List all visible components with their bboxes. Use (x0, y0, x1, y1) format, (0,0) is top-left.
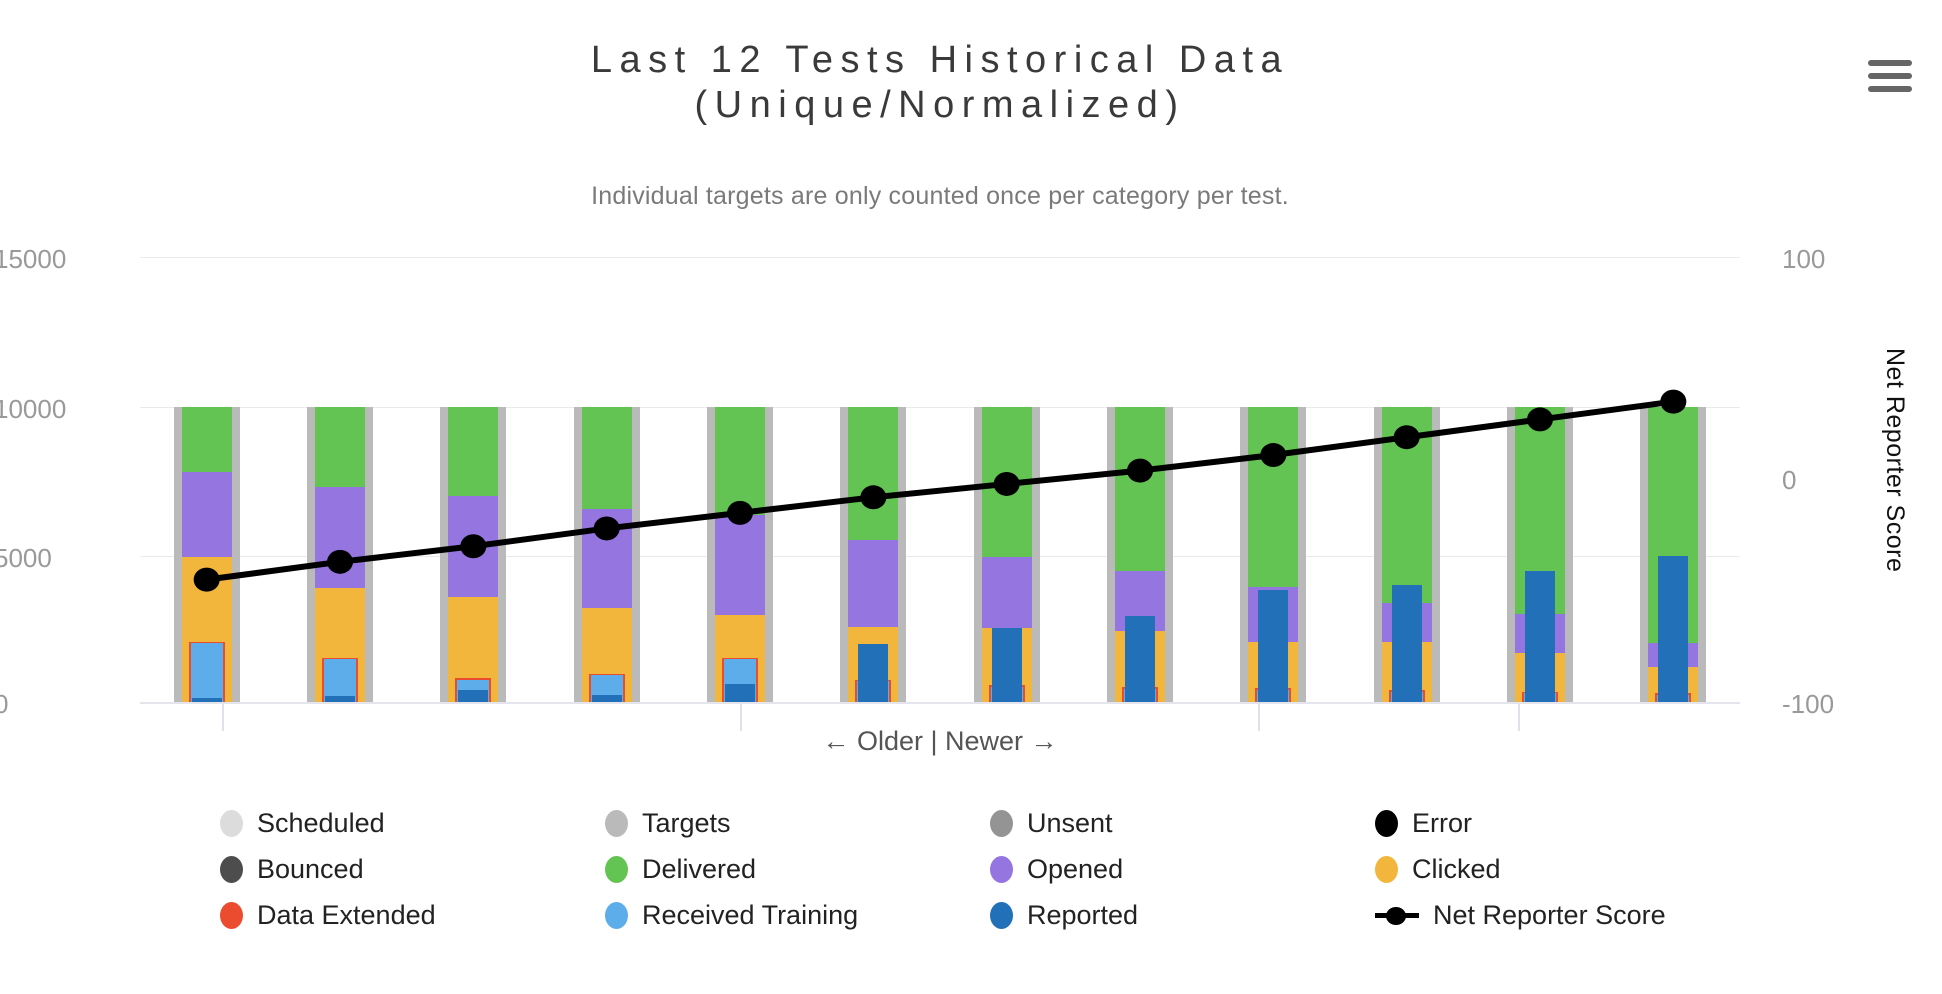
nrs-data-point[interactable] (460, 534, 486, 558)
chart-page: Last 12 Tests Historical Data (Unique/No… (0, 0, 1942, 994)
x-axis-label: ← Older | Newer → (0, 726, 1880, 757)
bar-segment-clicked (448, 597, 498, 702)
legend-swatch-icon (990, 856, 1013, 883)
bar-segment-received-training (1524, 693, 1556, 702)
bar-segment-reported (725, 684, 755, 702)
hamburger-bar-3 (1868, 86, 1912, 92)
chart-subtitle: Individual targets are only counted once… (0, 182, 1880, 211)
gridline-10000 (140, 407, 1740, 408)
legend-swatch-icon (1375, 810, 1398, 837)
legend-swatch-icon (220, 902, 243, 929)
legend-item-delivered[interactable]: Delivered (605, 854, 990, 885)
bar-segment-clicked (1515, 653, 1565, 702)
bar-segment-reported (1258, 590, 1288, 702)
legend-item-label: Opened (1027, 854, 1123, 885)
legend-item-label: Targets (642, 808, 731, 839)
bar-segment-received-training (857, 681, 889, 702)
y-axis-right-title: Net Reporter Score (1880, 348, 1909, 572)
legend-item-error[interactable]: Error (1375, 808, 1760, 839)
nrs-data-point[interactable] (727, 501, 753, 525)
legend-item-label: Unsent (1027, 808, 1113, 839)
legend-item-clicked[interactable]: Clicked (1375, 854, 1760, 885)
bar-segment-delivered (982, 407, 1032, 702)
bar-segment-received-training (591, 675, 623, 702)
bar-segment-data-extended (855, 680, 891, 702)
bar-segment-opened (715, 515, 765, 702)
legend-line-icon (1375, 902, 1419, 929)
bar-segment-data-extended (1522, 692, 1558, 702)
bar-segment-reported (325, 696, 355, 702)
bar-segment-received-training (457, 680, 489, 702)
bar-segment-data-extended (722, 658, 758, 702)
bar-segment-opened (1115, 571, 1165, 702)
legend-item-scheduled[interactable]: Scheduled (220, 808, 605, 839)
legend-item-opened[interactable]: Opened (990, 854, 1375, 885)
bar-segment-clicked (982, 628, 1032, 702)
bar-segment-delivered (1248, 407, 1298, 702)
bar-segment-opened (982, 557, 1032, 702)
y-tick-left-0: 15000 (0, 244, 66, 275)
y-tick-right-2: -100 (1782, 689, 1834, 720)
legend-item-data-extended[interactable]: Data Extended (220, 900, 605, 931)
gridline-5000 (140, 556, 1740, 557)
nrs-data-point[interactable] (1127, 459, 1153, 483)
nrs-data-point[interactable] (327, 550, 353, 574)
bar-segment-opened (182, 472, 232, 702)
legend-swatch-icon (605, 856, 628, 883)
bar-segment-opened (1515, 614, 1565, 703)
y-tick-left-1: 10000 (0, 394, 66, 425)
bar-segment-targets (1374, 407, 1440, 702)
bar-segment-reported (1392, 585, 1422, 702)
bar-segment-clicked (1648, 667, 1698, 702)
bar-segment-reported (992, 628, 1022, 702)
legend-item-reported[interactable]: Reported (990, 900, 1375, 931)
bar-segment-opened (848, 540, 898, 702)
nrs-data-point[interactable] (594, 516, 620, 540)
bar-segment-opened (1382, 603, 1432, 702)
bar-segment-targets (1507, 407, 1573, 702)
y-tick-left-3: 0 (0, 689, 8, 720)
bar-segment-clicked (315, 588, 365, 702)
nrs-data-point[interactable] (1394, 425, 1420, 449)
bar-segment-targets (1640, 407, 1706, 702)
bar-segment-received-training (1391, 692, 1423, 702)
legend-swatch-icon (605, 810, 628, 837)
bar-segment-received-training (1257, 690, 1289, 702)
bar-segment-delivered (448, 407, 498, 702)
hamburger-bar-2 (1868, 73, 1912, 79)
title-line-1: Last 12 Tests Historical Data (591, 39, 1289, 81)
bar-segment-received-training (191, 643, 223, 702)
bar-segment-data-extended (1255, 688, 1291, 702)
bar-segment-targets (974, 407, 1040, 702)
bar-segment-received-training (1124, 689, 1156, 702)
bar-segment-targets (840, 407, 906, 702)
bar-segment-data-extended (455, 678, 491, 702)
nrs-data-point[interactable] (994, 472, 1020, 496)
bar-segment-targets (307, 407, 373, 702)
bar-segment-data-extended (1655, 693, 1691, 702)
bar-segment-clicked (1248, 642, 1298, 702)
legend-swatch-icon (220, 856, 243, 883)
legend-swatch-icon (990, 810, 1013, 837)
bar-segment-data-extended (322, 658, 358, 702)
bar-segment-delivered (1382, 407, 1432, 702)
legend-swatch-icon (990, 902, 1013, 929)
legend-swatch-icon (1375, 856, 1398, 883)
title-line-2: (Unique/Normalized) (0, 83, 1880, 128)
nrs-data-point[interactable] (860, 485, 886, 509)
bar-segment-clicked (1115, 631, 1165, 702)
nrs-data-point[interactable] (1527, 407, 1553, 431)
y-tick-right-0: 100 (1782, 244, 1825, 275)
bar-segment-reported (1658, 556, 1688, 702)
gridline-15000 (140, 257, 1740, 258)
bar-segment-data-extended (589, 674, 625, 702)
nrs-line-path (207, 402, 1674, 580)
legend-item-unsent[interactable]: Unsent (990, 808, 1375, 839)
bar-segment-targets (1240, 407, 1306, 702)
bar-segment-reported (192, 698, 222, 702)
nrs-data-point[interactable] (194, 568, 220, 592)
bar-segment-data-extended (989, 685, 1025, 702)
bar-segment-delivered (315, 407, 365, 702)
legend-item-label: Bounced (257, 854, 364, 885)
bar-segment-clicked (848, 627, 898, 702)
bar-segment-received-training (991, 687, 1023, 702)
legend-item-label: Data Extended (257, 900, 436, 931)
legend-item-label: Clicked (1412, 854, 1501, 885)
bar-segment-targets (574, 407, 640, 702)
legend-item-targets[interactable]: Targets (605, 808, 990, 839)
bar-segment-delivered (582, 407, 632, 702)
legend-item-label: Scheduled (257, 808, 385, 839)
bar-segment-delivered (848, 407, 898, 702)
bar-segment-data-extended (189, 642, 225, 702)
bar-segment-opened (448, 496, 498, 703)
hamburger-bar-1 (1868, 60, 1912, 66)
bar-segment-clicked (715, 615, 765, 702)
bar-segment-opened (315, 487, 365, 702)
legend-item-label: Net Reporter Score (1433, 900, 1666, 931)
bar-segment-clicked (182, 557, 232, 702)
legend-item-label: Reported (1027, 900, 1138, 931)
legend-swatch-icon (220, 810, 243, 837)
legend-item-label: Delivered (642, 854, 756, 885)
bar-segment-reported (1525, 571, 1555, 702)
bar-segment-delivered (1515, 407, 1565, 702)
bar-segment-received-training (1657, 695, 1689, 702)
bar-segment-reported (592, 695, 622, 702)
bar-segment-clicked (582, 608, 632, 702)
axis-baseline (140, 702, 1740, 704)
y-tick-right-1: 0 (1782, 465, 1796, 496)
nrs-data-point[interactable] (1660, 390, 1686, 414)
bar-segment-data-extended (1122, 687, 1158, 702)
bar-segment-delivered (715, 407, 765, 702)
bar-segment-opened (1648, 643, 1698, 702)
bar-segment-targets (174, 407, 240, 702)
bar-segment-targets (1107, 407, 1173, 702)
legend-item-label: Error (1412, 808, 1472, 839)
bar-segment-received-training (324, 659, 356, 702)
hamburger-menu-icon[interactable] (1866, 55, 1914, 97)
bar-segment-reported (858, 644, 888, 702)
bar-segment-opened (582, 509, 632, 702)
bar-segment-reported (458, 690, 488, 702)
y-tick-left-2: 5000 (0, 543, 52, 574)
bar-segment-clicked (1382, 642, 1432, 702)
bar-segment-reported (1125, 616, 1155, 702)
bar-segment-delivered (182, 407, 232, 702)
nrs-data-point[interactable] (1260, 443, 1286, 467)
bar-segment-delivered (1115, 407, 1165, 702)
legend-item-received-training[interactable]: Received Training (605, 900, 990, 931)
legend-item-net-reporter-score[interactable]: Net Reporter Score (1375, 900, 1760, 931)
bar-segment-targets (440, 407, 506, 702)
bar-segment-delivered (1648, 407, 1698, 702)
legend-item-bounced[interactable]: Bounced (220, 854, 605, 885)
chart-legend: ScheduledTargetsUnsentErrorBouncedDelive… (220, 800, 1720, 938)
page-title: Last 12 Tests Historical Data (Unique/No… (0, 38, 1880, 128)
bar-segment-targets (707, 407, 773, 702)
bar-segment-received-training (724, 659, 756, 702)
legend-item-label: Received Training (642, 900, 858, 931)
legend-swatch-icon (605, 902, 628, 929)
bar-segment-data-extended (1389, 690, 1425, 702)
bar-segment-opened (1248, 587, 1298, 702)
